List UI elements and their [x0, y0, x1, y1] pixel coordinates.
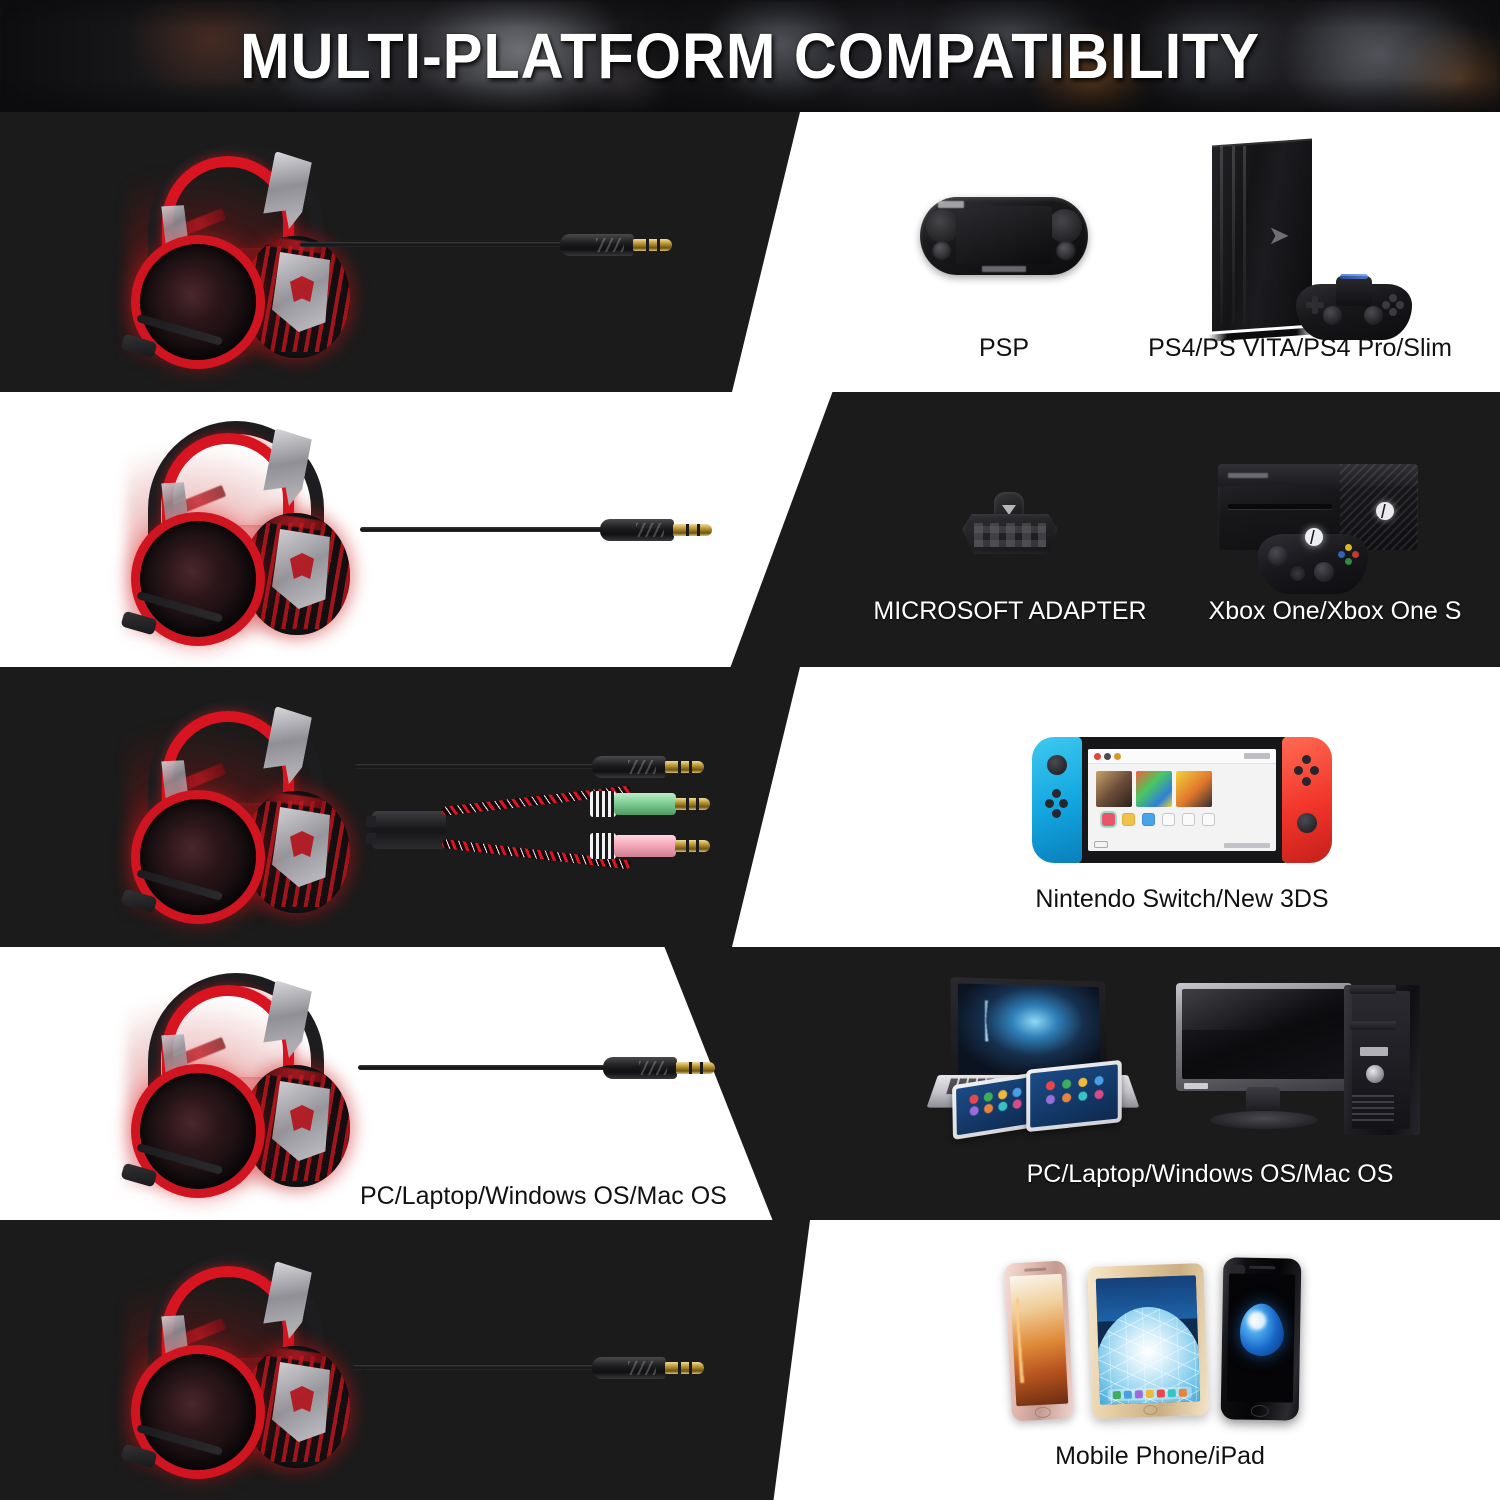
plug-gold-tip: [675, 798, 710, 810]
microsoft-adapter: [962, 492, 1058, 554]
gaming-headset: [118, 695, 348, 920]
headset-earcup-left: [140, 1073, 256, 1189]
xbox-logo-icon: [1376, 502, 1394, 520]
row-4-cable: [358, 1065, 608, 1070]
switch-joycon-left: [1032, 737, 1082, 863]
iphone-6s-screen: [1010, 1274, 1069, 1407]
jack-body: [592, 756, 666, 778]
headset-earcup-left: [140, 1354, 256, 1470]
xbc-face-buttons: [1338, 544, 1360, 566]
psp-console: [920, 197, 1088, 275]
tower-power-button: [1366, 1065, 1384, 1083]
headset-earcup-left: [140, 244, 256, 360]
row-5-device-1-label: Mobile Phone/iPad: [1010, 1442, 1310, 1471]
plug-collar: [590, 833, 616, 859]
ps4-vent-b: [1232, 146, 1235, 324]
switch-screen: [1088, 749, 1276, 851]
ds4-stick-left: [1323, 306, 1342, 325]
tower-drive-bay: [1350, 985, 1396, 994]
audio-plug-green: [590, 791, 710, 817]
switch-game-tiles: [1096, 771, 1212, 807]
row-4-audio-jack: [603, 1057, 715, 1079]
row-3-cable: [355, 764, 600, 769]
jack-body: [560, 234, 634, 256]
gaming-headset: [118, 140, 348, 365]
y-splitter-cable: [372, 795, 712, 865]
row-2-device-2-label: Xbox One/Xbox One S: [1180, 597, 1490, 626]
ps4-vent-c: [1243, 146, 1246, 324]
ipad-air-gold: [1087, 1263, 1208, 1419]
gaming-headset: [118, 969, 348, 1194]
iphone-7-plus-jet-black: [1221, 1257, 1302, 1420]
header-banner: MULTI-PLATFORM COMPATIBILITY: [0, 0, 1500, 112]
row-5-cable: [352, 1365, 597, 1370]
mic-plug-pink: [590, 833, 710, 859]
tower-brand-logo: [1360, 1047, 1388, 1056]
headset-earcup-right: [244, 791, 350, 913]
row-1-device-2-label: PS4/PS VITA/PS4 Pro/Slim: [1110, 334, 1490, 363]
xbox-controller: [1258, 524, 1368, 602]
joycon-right-buttons: [1294, 755, 1320, 787]
xbox-disc-slot: [1228, 504, 1332, 509]
headset-earcup-right: [244, 513, 350, 635]
row-1: PSP ➤ PS4/PS VITA/PS4 Pro/Slim: [0, 112, 1500, 392]
ps4-vent-a: [1220, 146, 1223, 324]
splitter-hub: [372, 811, 446, 849]
psp-screen: [956, 206, 1052, 264]
row-3-audio-jack: [592, 756, 704, 778]
iphone-7-wallpaper-droplet: [1235, 1301, 1288, 1360]
desktop-monitor: [1176, 983, 1352, 1133]
laptop-screen: [958, 984, 1101, 1075]
headset-earcup-right: [244, 1065, 350, 1187]
psp-dpad: [926, 209, 960, 243]
ds4-touchpad: [1336, 276, 1372, 306]
psp-stick-left: [932, 241, 952, 261]
xbox-wordmark: [1228, 473, 1268, 478]
jack-gold-tip: [673, 524, 712, 536]
plug-barrel-pink: [614, 835, 676, 857]
jack-gold-tip: [665, 1362, 704, 1374]
row-1-device-1-label: PSP: [920, 334, 1088, 363]
row-2: MICROSOFT ADAPTER Xbox One/Xbox One S: [0, 392, 1500, 667]
page-title: MULTI-PLATFORM COMPATIBILITY: [53, 0, 1448, 112]
iphone-6s-rose-gold: [1004, 1260, 1074, 1421]
ds4-dpad: [1306, 296, 1324, 314]
playstation-wordmark: [982, 266, 1026, 272]
switch-hints: [1224, 843, 1270, 848]
switch-status-bar: [1088, 749, 1276, 764]
row-3-device-1-label: Nintendo Switch/New 3DS: [1002, 885, 1362, 914]
sony-logo: [938, 201, 964, 208]
plug-collar: [590, 791, 616, 817]
nintendo-switch-console: [1032, 737, 1332, 863]
row-1-cable: [300, 242, 565, 247]
monitor-panel: [1176, 983, 1352, 1091]
game-tile-1: [1096, 771, 1132, 807]
joycon-right-stick: [1297, 813, 1317, 833]
headset-earcup-left: [140, 521, 256, 637]
jack-body: [592, 1357, 666, 1379]
switch-battery-icon: [1094, 841, 1108, 848]
desktop-tower: [1344, 985, 1420, 1135]
headset-earcup-right: [244, 1346, 350, 1468]
jack-body: [600, 519, 674, 541]
switch-joycon-right: [1282, 737, 1332, 863]
row-2-device-1-label: MICROSOFT ADAPTER: [870, 597, 1150, 626]
tablet-large-screen: [1030, 1064, 1118, 1127]
ds4-face-buttons: [1382, 294, 1404, 316]
laptop-and-tablets: [938, 979, 1128, 1129]
row-4-product-label: PC/Laptop/Windows OS/Mac OS: [360, 1182, 727, 1211]
headset-earcup-left: [140, 799, 256, 915]
row-2-audio-jack: [600, 519, 712, 541]
game-tile-3: [1176, 771, 1212, 807]
psp-face-buttons: [1048, 209, 1082, 243]
xbc-dpad: [1290, 566, 1305, 581]
row-4: PC/Laptop/Windows OS/Mac OS: [0, 947, 1500, 1220]
joycon-left-dpad: [1045, 789, 1069, 819]
tablet-small-screen: [956, 1077, 1034, 1136]
headset-earcup-right: [244, 236, 350, 358]
ipad-screen: [1096, 1275, 1200, 1404]
xbc-stick-right: [1314, 562, 1334, 582]
tablet-large: [1026, 1060, 1121, 1132]
row-5-audio-jack: [592, 1357, 704, 1379]
xbox-guide-button: [1305, 528, 1323, 546]
jack-gold-tip: [665, 761, 704, 773]
infographic-page: MULTI-PLATFORM COMPATIBILITY: [0, 0, 1500, 1500]
gaming-headset: [118, 417, 348, 642]
iphone-7-screen: [1227, 1273, 1295, 1402]
row-5: Mobile Phone/iPad: [0, 1220, 1500, 1500]
psp-stick-right: [1056, 241, 1076, 261]
jack-gold-tip: [633, 239, 672, 251]
iphone-7-earpiece: [1249, 1266, 1275, 1269]
plug-barrel-green: [614, 793, 676, 815]
ds4-lightbar: [1340, 274, 1368, 279]
iphone-7-home-button: [1251, 1405, 1269, 1417]
row-2-cable: [360, 527, 605, 532]
jack-body: [603, 1057, 677, 1079]
row-3: Nintendo Switch/New 3DS: [0, 667, 1500, 947]
monitor-brand-logo: [1184, 1083, 1208, 1089]
game-tile-2: [1136, 771, 1172, 807]
playstation-logo-icon: ➤: [1268, 222, 1288, 248]
ds4-stick-right: [1364, 306, 1383, 325]
monitor-stand-base: [1210, 1111, 1318, 1129]
row-4-device-1-label: PC/Laptop/Windows OS/Mac OS: [1020, 1160, 1400, 1189]
joycon-left-stick: [1047, 755, 1067, 775]
tower-drive-bay: [1350, 1021, 1396, 1030]
plug-gold-tip: [675, 840, 710, 852]
xbc-stick-left: [1268, 546, 1288, 566]
switch-menu-icons: [1102, 813, 1215, 826]
gaming-headset: [118, 1250, 348, 1475]
jack-gold-tip: [676, 1062, 715, 1074]
adapter-body: [962, 514, 1058, 554]
monitor-screen: [1182, 989, 1346, 1079]
tower-vent: [1352, 1091, 1394, 1121]
row-1-audio-jack: [560, 234, 672, 256]
